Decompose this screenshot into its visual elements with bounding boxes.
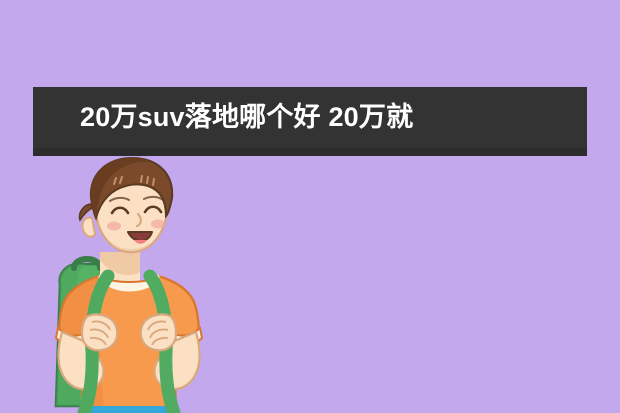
student-illustration-svg bbox=[0, 156, 310, 413]
title-banner-bottom-strip bbox=[33, 148, 587, 156]
left-hand bbox=[82, 314, 117, 350]
page-title: 20万suv落地哪个好 20万就 bbox=[80, 87, 413, 148]
right-hand bbox=[141, 314, 176, 350]
head bbox=[79, 158, 172, 252]
jeans bbox=[82, 406, 176, 413]
student-illustration bbox=[0, 156, 310, 413]
title-banner: 20万suv落地哪个好 20万就 bbox=[33, 87, 587, 156]
page-root: 20万suv落地哪个好 20万就 bbox=[0, 0, 620, 413]
